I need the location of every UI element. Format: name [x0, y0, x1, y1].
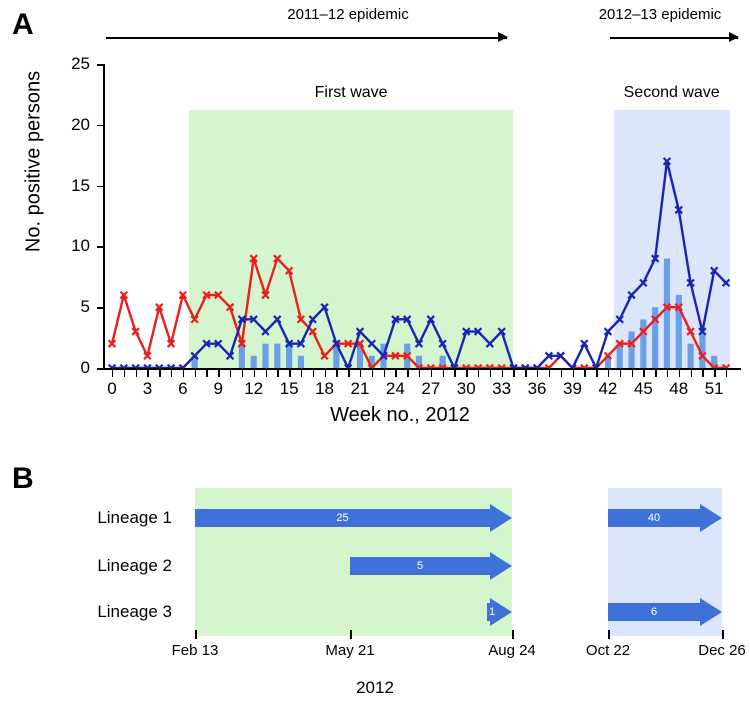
x-tick — [325, 370, 326, 377]
x-tick-label: 33 — [482, 379, 522, 399]
y-axis-title: No. positive persons — [23, 32, 46, 292]
x-axis-line — [103, 368, 741, 370]
lineage-arrow — [350, 552, 512, 580]
x-tick — [218, 370, 219, 377]
y-tick — [97, 64, 104, 66]
bar — [262, 344, 268, 368]
bar — [640, 319, 646, 368]
x-tick-label: 18 — [305, 379, 345, 399]
x-tick-label: 45 — [623, 379, 663, 399]
x-tick-label: 39 — [553, 379, 593, 399]
x-tick — [124, 370, 125, 377]
x-tick-label: 6 — [163, 379, 203, 399]
x-tick — [490, 370, 491, 377]
bar — [251, 356, 257, 368]
x-tick — [112, 370, 113, 377]
bar — [298, 356, 304, 368]
panel-b-date-label: Oct 22 — [563, 642, 653, 659]
panel-a: A 2011–12 epidemic 2012–13 epidemic Firs… — [0, 0, 750, 440]
x-tick — [454, 370, 455, 377]
x-tick — [136, 370, 137, 377]
y-tick — [97, 246, 104, 248]
y-tick-label: 5 — [48, 297, 90, 317]
x-tick-label: 24 — [375, 379, 415, 399]
panel-b-date-label: Aug 24 — [467, 642, 557, 659]
epidemic-2-arrow-icon — [610, 32, 738, 44]
x-tick — [407, 370, 408, 377]
bar — [688, 344, 694, 368]
x-tick-label: 30 — [446, 379, 486, 399]
plot-area: First wave Second wave — [104, 64, 740, 368]
x-tick-label: 48 — [659, 379, 699, 399]
panel-b-date-label: May 21 — [305, 642, 395, 659]
y-tick — [97, 368, 104, 370]
epidemic-1-arrow-icon — [106, 32, 507, 44]
x-tick — [561, 370, 562, 377]
x-tick-label: 36 — [517, 379, 557, 399]
x-tick-label: 27 — [411, 379, 451, 399]
x-tick — [348, 370, 349, 377]
x-tick — [277, 370, 278, 377]
x-tick — [159, 370, 160, 377]
x-tick — [608, 370, 609, 377]
x-tick — [584, 370, 585, 377]
x-tick — [242, 370, 243, 377]
lineage-arrow — [608, 504, 722, 532]
lineage-arrow — [195, 504, 512, 532]
panel-b-date-label: Dec 26 — [677, 642, 750, 659]
x-tick-label: 42 — [588, 379, 628, 399]
x-tick — [431, 370, 432, 377]
y-tick-label: 0 — [48, 358, 90, 378]
y-tick-label: 20 — [48, 115, 90, 135]
x-tick — [691, 370, 692, 377]
x-tick — [336, 370, 337, 377]
x-tick — [502, 370, 503, 377]
bar — [664, 259, 670, 368]
panel-b-date-label: Feb 13 — [150, 642, 240, 659]
blue-series-marker — [262, 328, 269, 335]
x-tick — [266, 370, 267, 377]
x-tick — [620, 370, 621, 377]
bar — [274, 344, 280, 368]
x-tick — [372, 370, 373, 377]
x-tick — [419, 370, 420, 377]
x-tick — [643, 370, 644, 377]
x-tick — [183, 370, 184, 377]
x-tick — [573, 370, 574, 377]
lineage-arrow — [487, 598, 512, 626]
x-tick-label: 51 — [694, 379, 734, 399]
x-tick — [254, 370, 255, 377]
y-tick — [97, 125, 104, 127]
panel-b-tick — [195, 630, 197, 639]
x-tick — [443, 370, 444, 377]
x-tick-label: 3 — [127, 379, 167, 399]
x-tick — [147, 370, 148, 377]
x-tick — [513, 370, 514, 377]
x-tick — [195, 370, 196, 377]
lineage-arrows-svg — [0, 440, 750, 650]
panel-b-axis-title: 2012 — [325, 678, 425, 698]
x-tick-label: 12 — [234, 379, 274, 399]
x-tick — [632, 370, 633, 377]
x-tick — [395, 370, 396, 377]
blue-series-marker — [486, 340, 493, 347]
x-tick — [679, 370, 680, 377]
chart-series-svg — [104, 64, 740, 368]
x-tick — [360, 370, 361, 377]
x-tick — [596, 370, 597, 377]
x-tick — [525, 370, 526, 377]
lineage-arrow — [608, 598, 722, 626]
y-tick — [97, 307, 104, 309]
x-tick-label: 0 — [92, 379, 132, 399]
x-tick-label: 21 — [340, 379, 380, 399]
y-tick-label: 25 — [48, 54, 90, 74]
x-tick — [667, 370, 668, 377]
epidemic-2-label: 2012–13 epidemic — [570, 6, 750, 23]
x-tick — [466, 370, 467, 377]
blue-series-marker — [368, 340, 375, 347]
panel-b: B Lineage 1Lineage 2Lineage 3 2540516 Fe… — [0, 440, 750, 708]
y-tick — [97, 186, 104, 188]
x-tick — [478, 370, 479, 377]
x-tick — [206, 370, 207, 377]
x-tick — [171, 370, 172, 377]
x-tick — [714, 370, 715, 377]
x-tick — [313, 370, 314, 377]
panel-b-tick — [512, 630, 514, 639]
y-tick-label: 10 — [48, 236, 90, 256]
bar — [628, 332, 634, 368]
x-tick-label: 9 — [198, 379, 238, 399]
x-axis-title: Week no., 2012 — [250, 404, 550, 427]
x-tick — [289, 370, 290, 377]
x-tick — [384, 370, 385, 377]
epidemic-1-label: 2011–12 epidemic — [178, 6, 518, 23]
x-tick — [726, 370, 727, 377]
x-tick-label: 15 — [269, 379, 309, 399]
x-tick — [230, 370, 231, 377]
blue-series-marker — [723, 279, 730, 286]
x-tick — [702, 370, 703, 377]
panel-b-tick — [608, 630, 610, 639]
x-tick — [301, 370, 302, 377]
x-tick — [537, 370, 538, 377]
x-tick — [655, 370, 656, 377]
panel-b-tick — [722, 630, 724, 639]
x-tick — [549, 370, 550, 377]
panel-b-tick — [350, 630, 352, 639]
y-tick-label: 15 — [48, 176, 90, 196]
